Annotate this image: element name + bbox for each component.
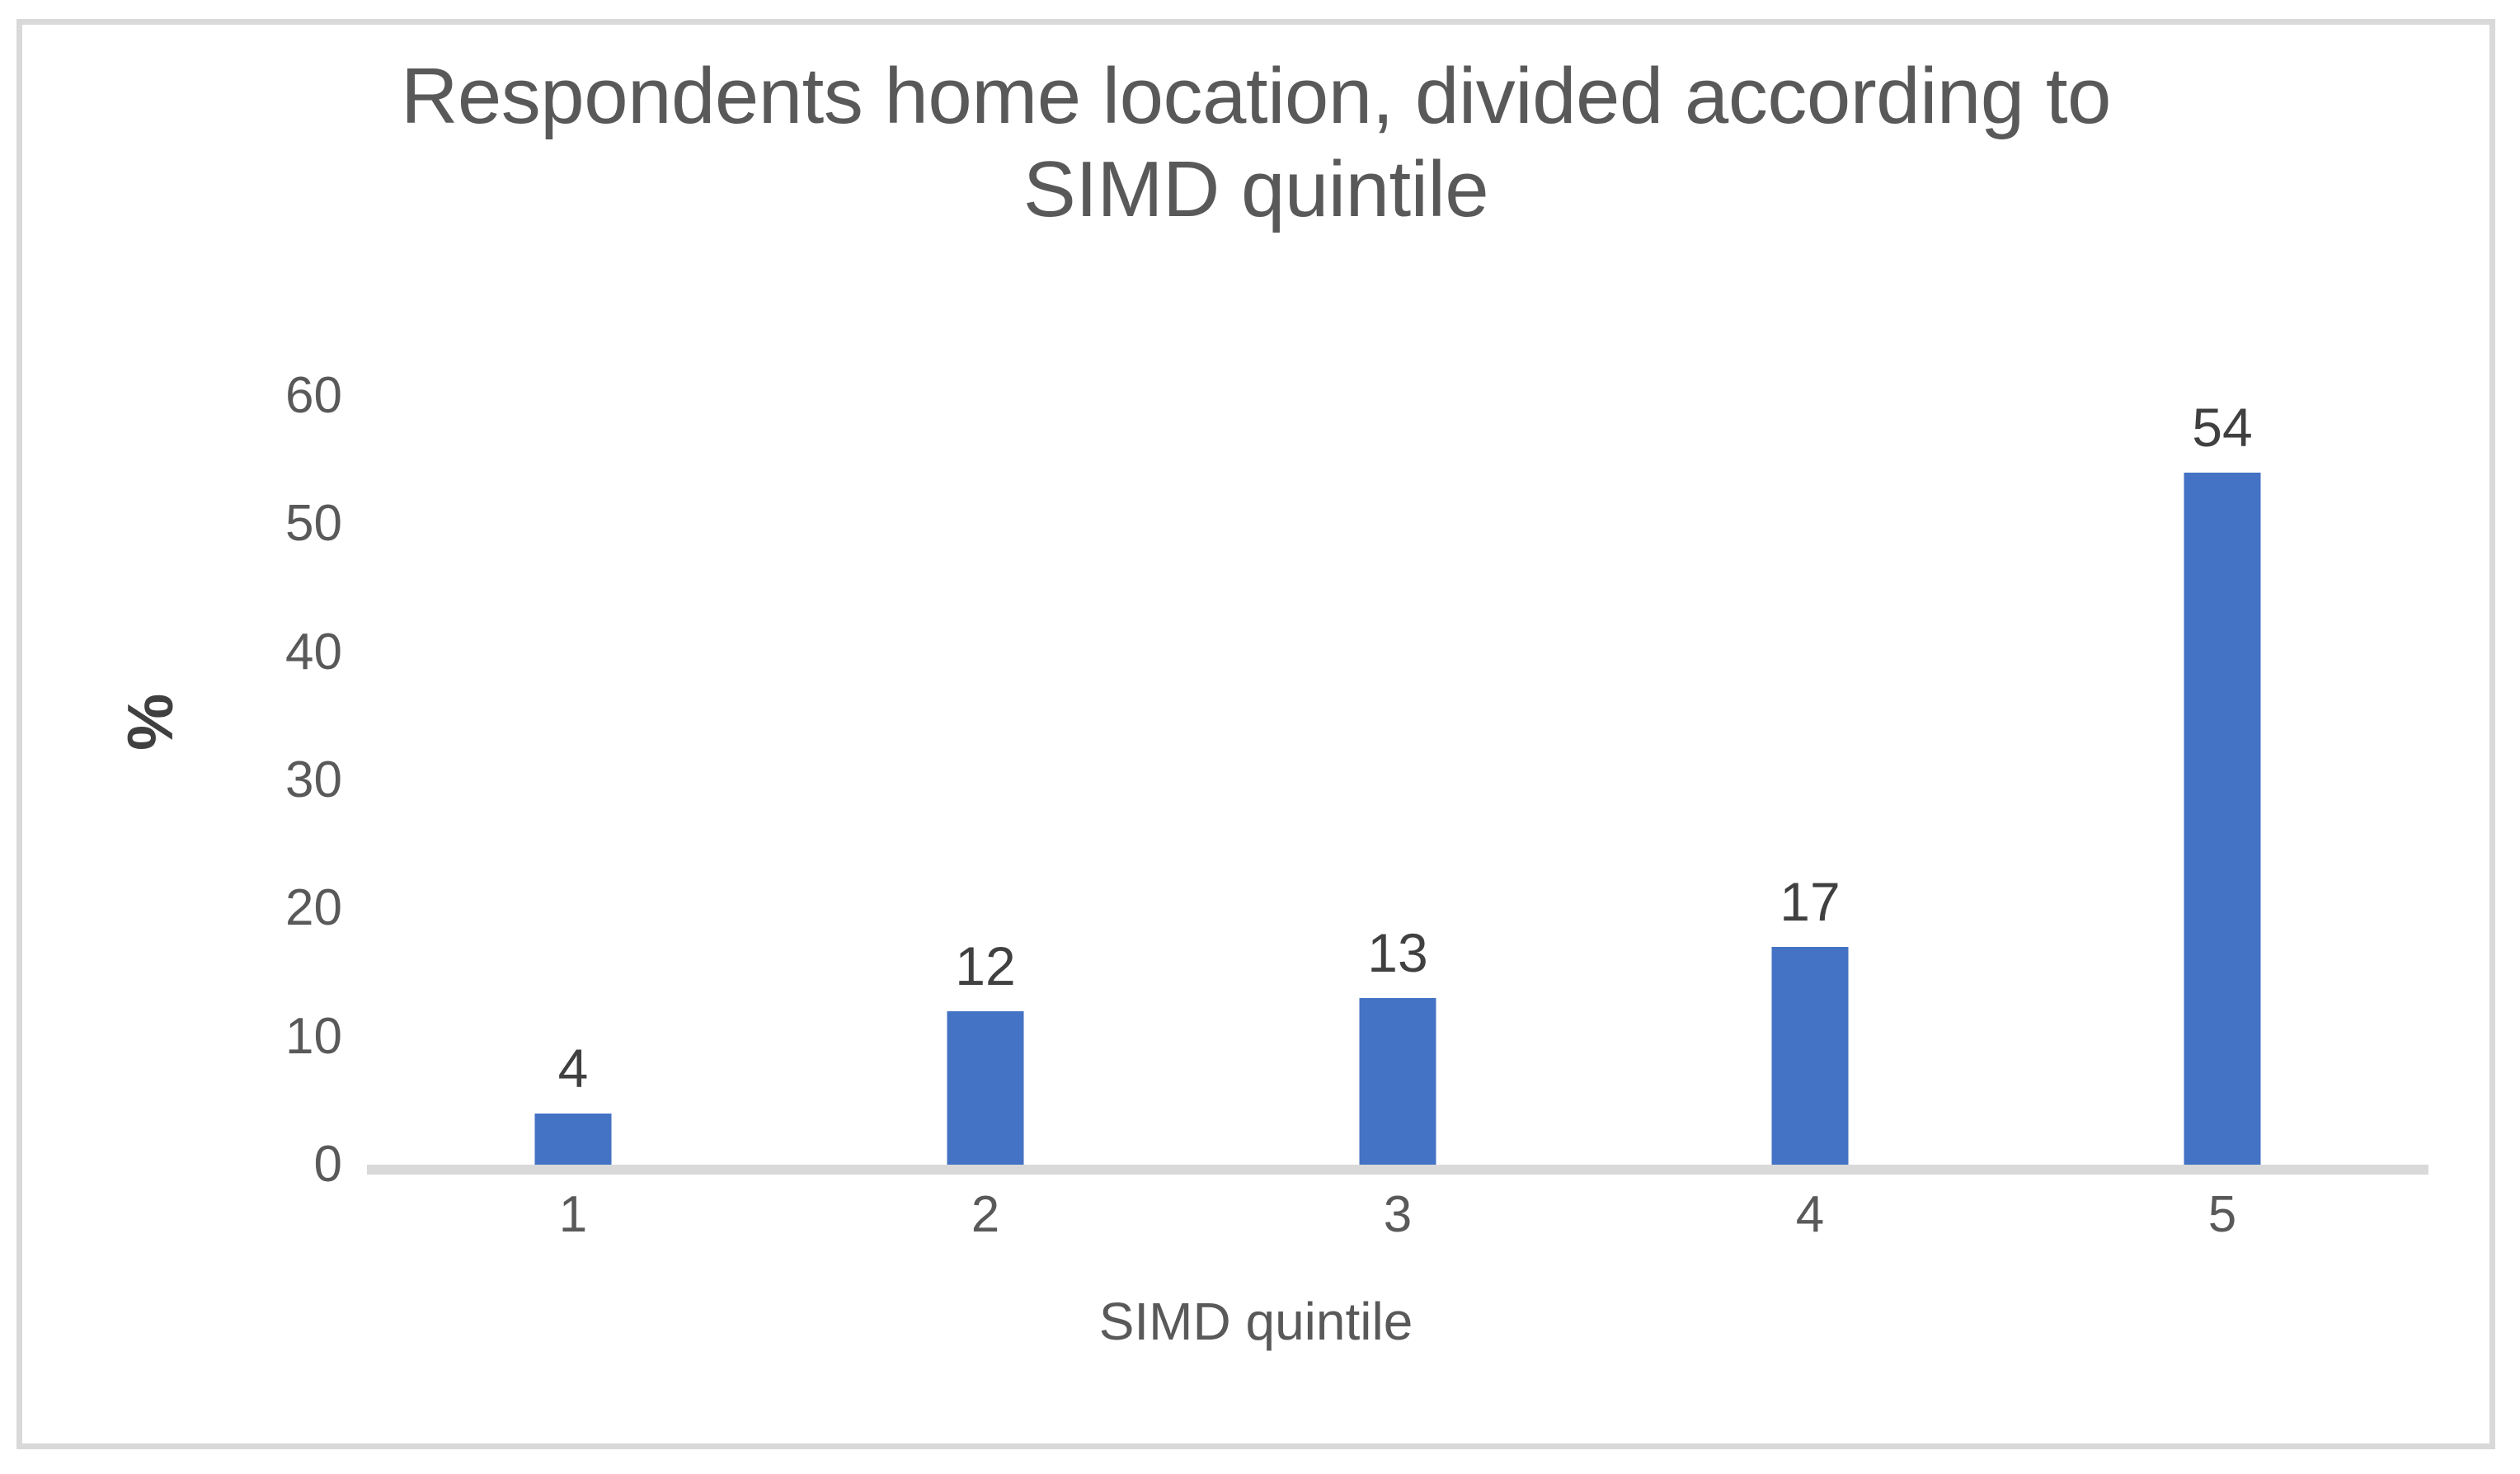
x-axis-title: SIMD quintile	[22, 1295, 2489, 1348]
x-axis-category-labels: 1 2 3 4 5	[367, 25, 2428, 1443]
y-tick-label: 50	[194, 498, 342, 549]
y-tick-label: 0	[194, 1139, 342, 1190]
x-tick-label: 3	[1192, 1189, 1604, 1241]
x-tick-label: 2	[779, 1189, 1192, 1241]
y-tick-label: 20	[194, 883, 342, 934]
chart-frame: Respondents home location, divided accor…	[16, 19, 2495, 1449]
y-tick-label: 40	[194, 627, 342, 678]
y-axis-tick-labels: 60 50 40 30 20 10 0	[177, 396, 342, 1165]
x-tick-label: 5	[2016, 1189, 2428, 1241]
x-tick-label: 4	[1604, 1189, 2016, 1241]
y-tick-label: 60	[194, 370, 342, 421]
y-tick-label: 10	[194, 1011, 342, 1062]
x-tick-label: 1	[367, 1189, 779, 1241]
y-tick-label: 30	[194, 755, 342, 806]
